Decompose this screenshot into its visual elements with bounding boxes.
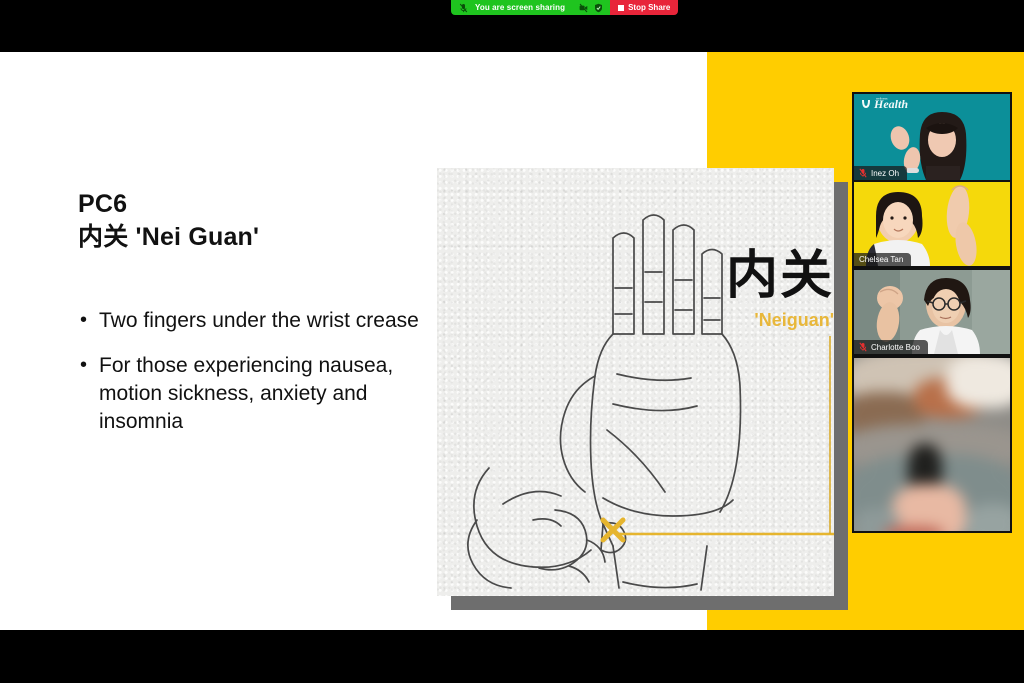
participant-name: Chelsea Tan <box>859 255 903 264</box>
title-name: 内关 'Nei Guan' <box>78 221 408 254</box>
microphone-icon[interactable] <box>459 3 468 13</box>
participant-video-strip[interactable]: Health wellness <box>852 92 1012 533</box>
video-tile-charlotte-boo[interactable]: Charlotte Boo <box>852 268 1012 356</box>
stop-square-icon <box>618 5 624 11</box>
bullet-marker-icon: • <box>80 352 87 436</box>
stop-share-button[interactable]: Stop Share <box>610 0 678 15</box>
participant-name-bar: Chelsea Tan <box>854 253 911 266</box>
svg-text:wellness: wellness <box>876 97 888 101</box>
participant-name-bar: Inez Oh <box>854 166 907 180</box>
share-bar-icons <box>571 0 610 15</box>
video-tile-blurred[interactable] <box>852 356 1012 533</box>
stop-share-label: Stop Share <box>628 3 670 12</box>
bullet-marker-icon: • <box>80 307 87 335</box>
page-title: PC6 内关 'Nei Guan' <box>78 188 408 253</box>
bullet-text: For those experiencing nausea, motion si… <box>99 352 420 436</box>
video-tile-inez-oh[interactable]: Health wellness <box>852 92 1012 182</box>
participant-name-bar: Charlotte Boo <box>854 340 928 354</box>
bullet-text: Two fingers under the wrist crease <box>99 307 419 335</box>
list-item: • Two fingers under the wrist crease <box>80 307 420 335</box>
microphone-muted-icon <box>859 168 867 178</box>
slide-bullet-list: • Two fingers under the wrist crease • F… <box>80 307 420 453</box>
pinyin-label: 'Neiguan' <box>754 311 834 329</box>
illustration-card: 内关 'Neiguan' P6 <box>437 168 834 596</box>
sharing-status-label: You are screen sharing <box>475 3 565 12</box>
list-item: • For those experiencing nausea, motion … <box>80 352 420 436</box>
participant-name: Charlotte Boo <box>871 343 920 352</box>
security-shield-icon[interactable] <box>594 3 603 13</box>
blurred-video-frame <box>854 358 1010 531</box>
microphone-muted-icon <box>859 342 867 352</box>
video-camera-icon[interactable] <box>579 3 588 13</box>
video-tile-chelsea-tan[interactable]: Chelsea Tan <box>852 180 1012 268</box>
participant-name: Inez Oh <box>871 169 899 178</box>
screen: You are screen sharing Stop Share PC6 内关… <box>0 0 1024 683</box>
title-code: PC6 <box>78 188 408 221</box>
hand-line-drawing <box>437 168 834 596</box>
sharing-status-group: You are screen sharing <box>451 0 571 15</box>
hanzi-label: 内关 <box>726 250 834 302</box>
zoom-screen-share-bar[interactable]: You are screen sharing Stop Share <box>451 0 678 15</box>
